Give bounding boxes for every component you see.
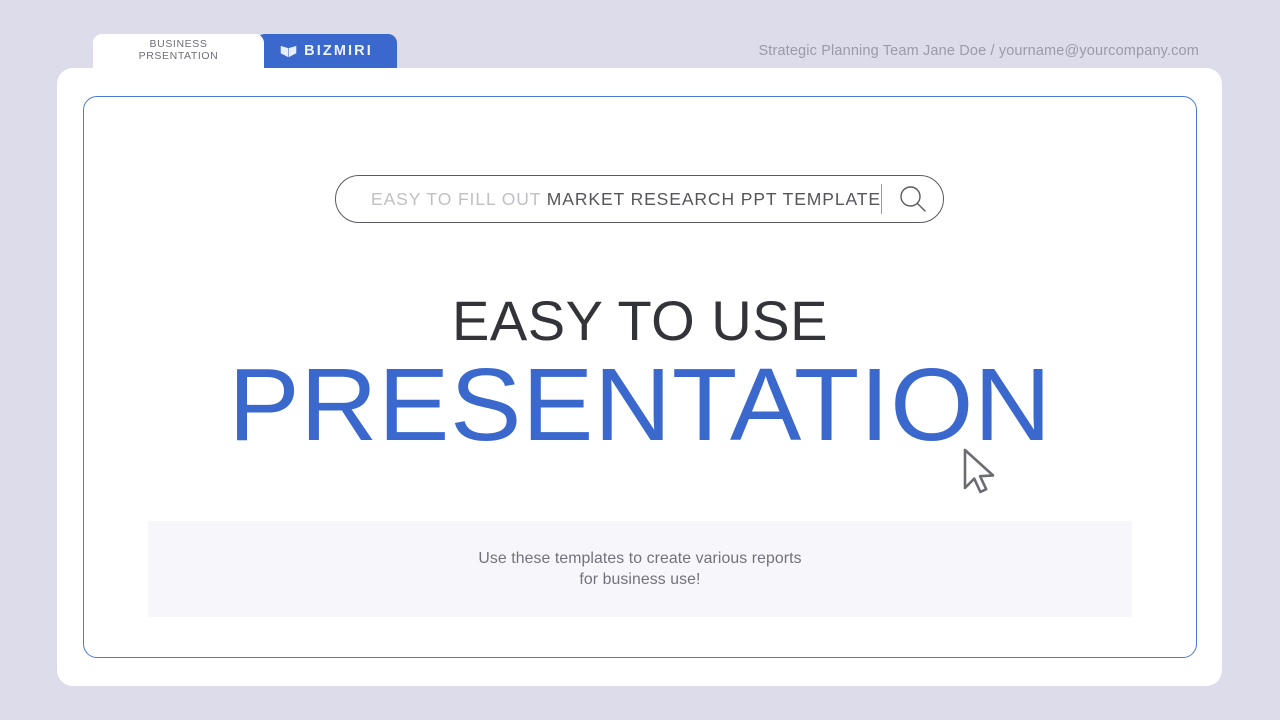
caption-text: Use these templates to create various re… <box>478 548 801 590</box>
headline-secondary: PRESENTATION <box>0 352 1280 458</box>
search-icon <box>897 183 929 215</box>
search-bar[interactable]: EASY TO FILL OUT MARKET RESEARCH PPT TEM… <box>335 175 944 223</box>
open-book-icon <box>280 45 297 58</box>
slide-canvas: BUSINESS PRSENTATION BIZMIRI Strategic P… <box>0 0 1280 720</box>
search-hint-text: EASY TO FILL OUT <box>371 189 541 209</box>
caption-box: Use these templates to create various re… <box>148 521 1132 617</box>
tab-business-presentation-label: BUSINESS PRSENTATION <box>139 38 219 63</box>
search-button[interactable] <box>882 176 943 222</box>
tab-bizmiri[interactable]: BIZMIRI <box>256 34 397 68</box>
tab-bar: BUSINESS PRSENTATION BIZMIRI <box>93 34 397 68</box>
search-value-text: MARKET RESEARCH PPT TEMPLATE <box>547 189 881 209</box>
tab-bizmiri-label: BIZMIRI <box>304 43 373 59</box>
headline-primary: EASY TO USE <box>0 292 1280 350</box>
mouse-cursor-icon <box>961 447 1001 495</box>
search-input[interactable]: EASY TO FILL OUT MARKET RESEARCH PPT TEM… <box>336 189 881 210</box>
tab-business-presentation[interactable]: BUSINESS PRSENTATION <box>93 34 264 68</box>
header-meta-text: Strategic Planning Team Jane Doe / yourn… <box>758 43 1199 59</box>
